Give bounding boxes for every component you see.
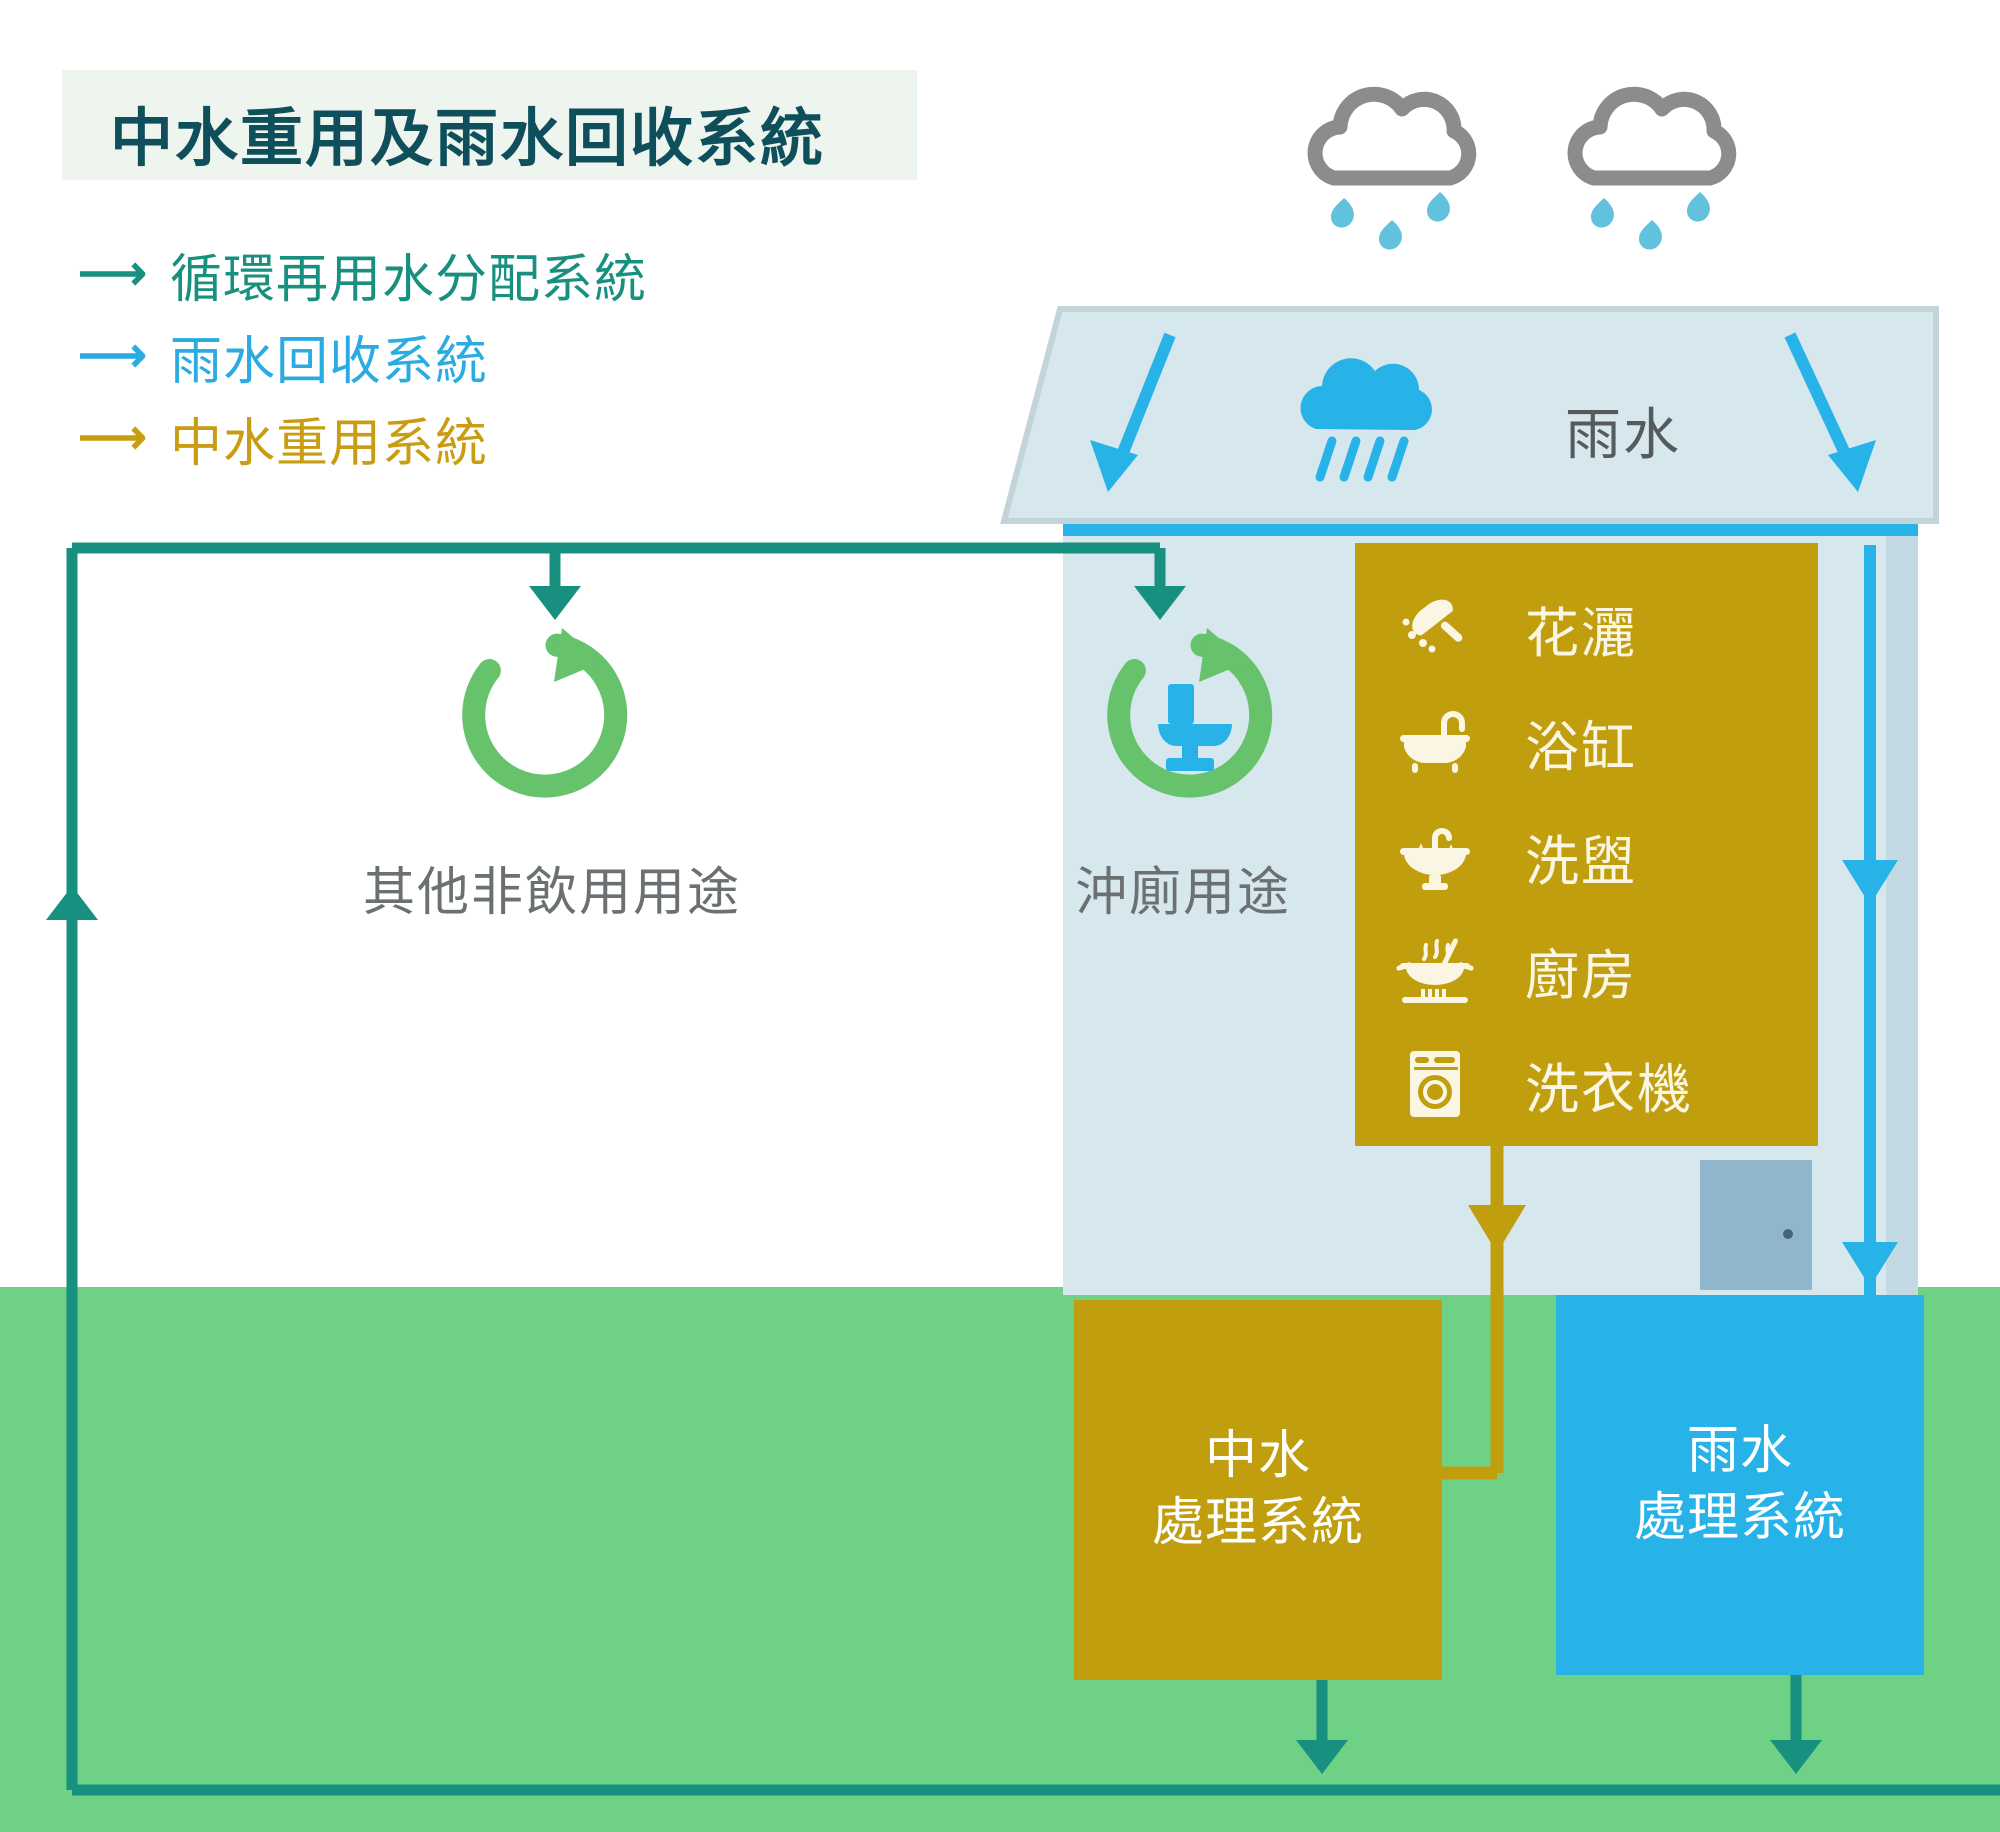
shower-head-icon [1385, 589, 1485, 667]
appliance-label: 浴缸 [1525, 703, 1637, 782]
tank-label-line2: 處理系統 [1634, 1485, 1846, 1552]
washing-machine-icon [1385, 1045, 1485, 1123]
appliance-row-basin: 洗盥 [1355, 799, 1818, 913]
tank-label: 中水 處理系統 [1152, 1423, 1364, 1556]
rain-cloud-outline-icon [1560, 70, 1760, 260]
rainwater-treatment-tank: 雨水 處理系統 [1556, 1295, 1924, 1675]
greywater-treatment-tank: 中水 處理系統 [1074, 1300, 1442, 1680]
legend-item-label: 中水重用系統 [170, 401, 488, 476]
kitchen-wok-icon [1385, 931, 1485, 1009]
rain-cloud-outline-icon [1300, 70, 1500, 260]
arrow-right-icon: ⟶ [78, 414, 170, 462]
house-right-wall [1886, 525, 1918, 1295]
legend-item-label: 雨水回收系統 [170, 319, 488, 394]
house-door [1700, 1160, 1812, 1290]
appliance-row-kitchen: 廚房 [1355, 913, 1818, 1027]
tank-label-line2: 處理系統 [1152, 1490, 1364, 1557]
tank-label: 雨水 處理系統 [1634, 1418, 1846, 1551]
arrow-right-icon: ⟶ [78, 250, 170, 298]
legend-item-greywater: ⟶ 中水重用系統 [78, 404, 647, 472]
bathtub-icon [1385, 703, 1485, 781]
recycle-arrow-icon [450, 620, 640, 810]
appliance-row-shower: 花灑 [1355, 571, 1818, 685]
appliance-label: 洗衣機 [1525, 1045, 1693, 1124]
legend: ⟶ 循環再用水分配系統 ⟶ 雨水回收系統 ⟶ 中水重用系統 [78, 240, 647, 486]
appliance-label: 洗盥 [1525, 817, 1637, 896]
roof-rainwater-label: 雨水 [1565, 390, 1681, 471]
appliance-label: 花灑 [1525, 589, 1637, 668]
tank-label-line1: 雨水 [1634, 1418, 1846, 1485]
legend-item-label: 循環再用水分配系統 [170, 237, 647, 312]
door-knob-icon [1783, 1229, 1793, 1239]
other-nonpotable-use-label: 其他非飲用用途 [363, 850, 741, 925]
appliance-label: 廚房 [1525, 931, 1637, 1010]
toilet-flushing-use-label: 沖廁用途 [1075, 850, 1291, 925]
appliance-row-washing-machine: 洗衣機 [1355, 1027, 1818, 1141]
arrow-right-icon: ⟶ [78, 332, 170, 380]
page-title: 中水重用及雨水回收系統 [110, 88, 825, 179]
rain-cloud-icon [1290, 355, 1450, 495]
toilet-icon [1148, 682, 1248, 783]
house-roof [1000, 305, 1940, 527]
appliance-row-bathtub: 浴缸 [1355, 685, 1818, 799]
legend-item-rainwater: ⟶ 雨水回收系統 [78, 322, 647, 390]
legend-item-recycled-water: ⟶ 循環再用水分配系統 [78, 240, 647, 308]
arrow-up-icon [46, 886, 98, 920]
infographic-canvas: 中水重用及雨水回收系統 ⟶ 循環再用水分配系統 ⟶ 雨水回收系統 ⟶ 中水重用系… [0, 0, 2000, 1832]
appliance-panel: 花灑 浴缸 [1355, 543, 1818, 1146]
arrow-down-icon [529, 586, 581, 620]
tank-label-line1: 中水 [1152, 1423, 1364, 1490]
wash-basin-icon [1385, 817, 1485, 895]
